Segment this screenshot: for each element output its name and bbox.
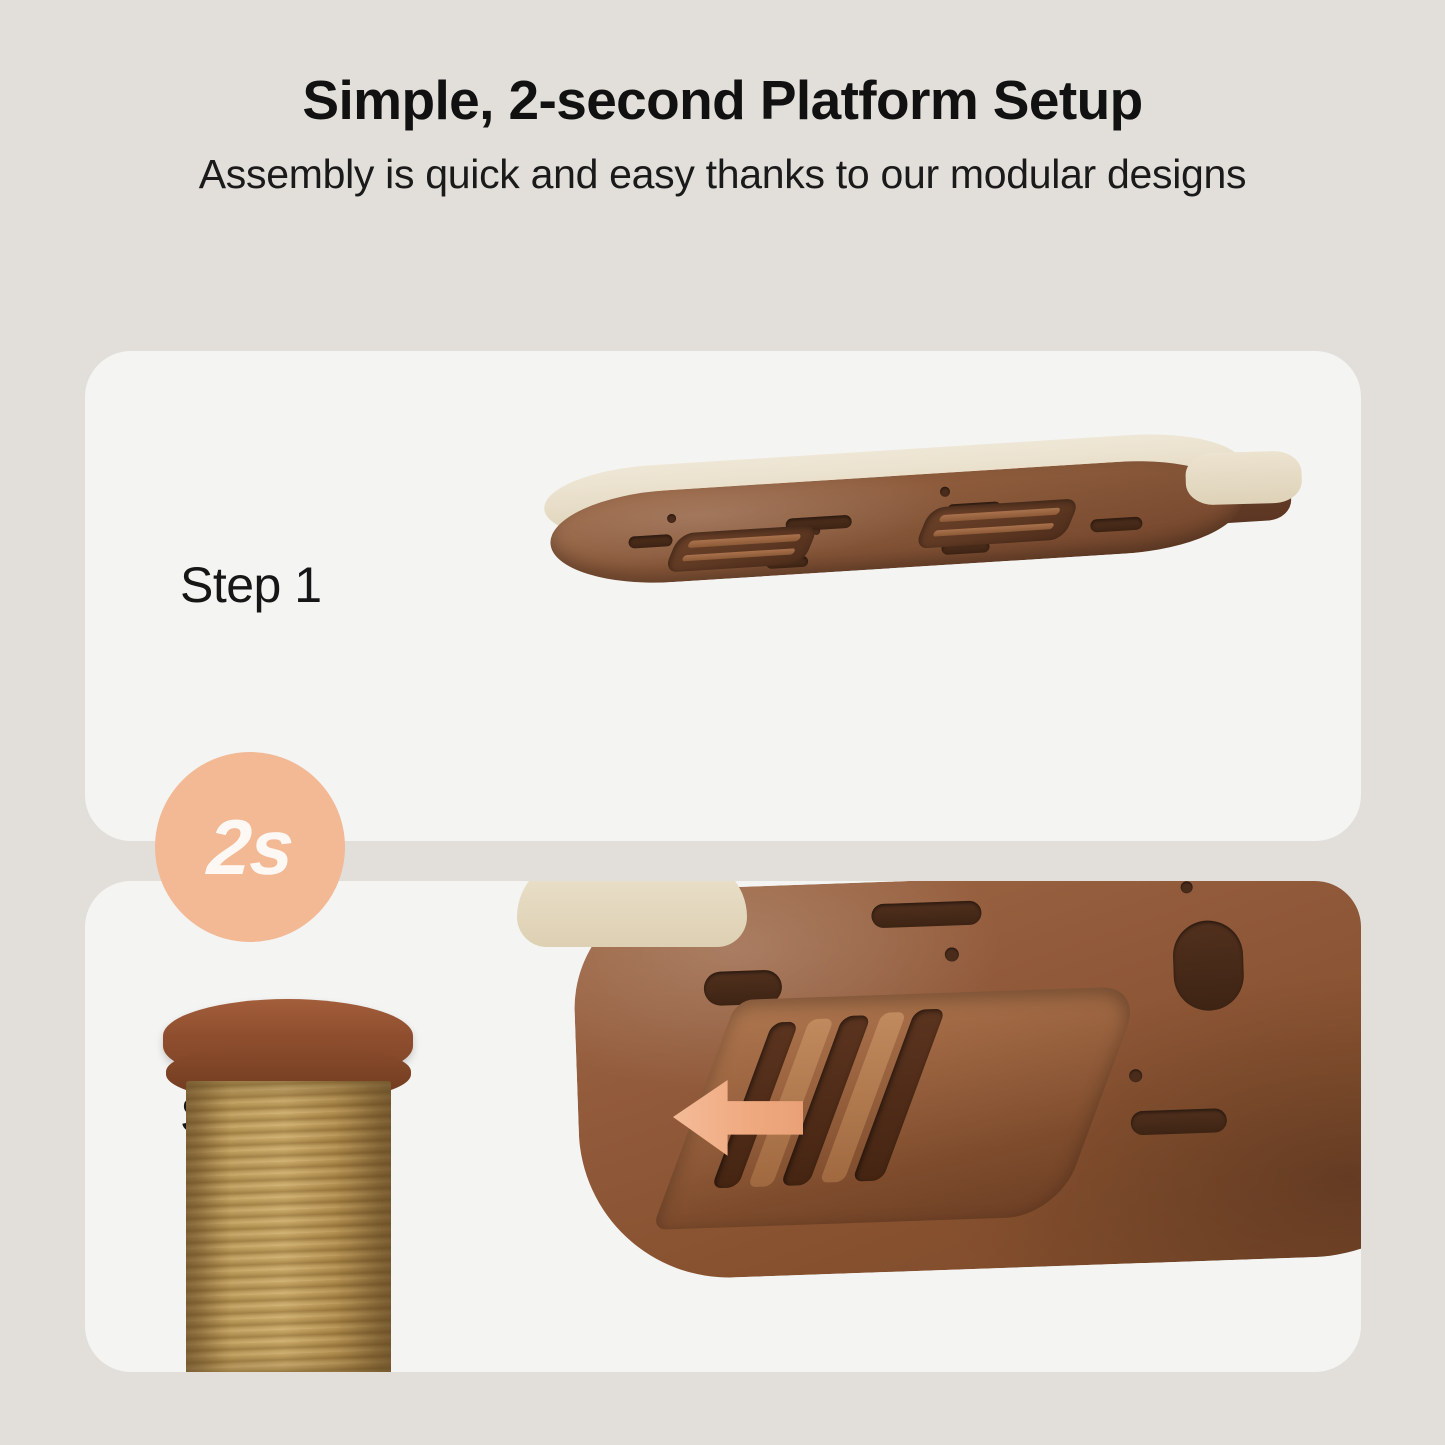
platform-board xyxy=(542,426,1278,592)
header: Simple, 2-second Platform Setup Assembly… xyxy=(0,0,1445,197)
sisal-post xyxy=(163,999,413,1372)
oval-slot xyxy=(1130,1108,1227,1135)
page-subtitle: Assembly is quick and easy thanks to our… xyxy=(0,152,1445,197)
duration-badge: 2s xyxy=(155,752,345,942)
step-2-illustration xyxy=(85,881,1361,1372)
screw-hole xyxy=(940,486,951,497)
sisal-rope xyxy=(186,1081,391,1372)
screw-hole xyxy=(1180,881,1192,893)
platform-cream-edge xyxy=(517,881,747,947)
oval-slot xyxy=(628,534,673,549)
screw-hole xyxy=(667,514,677,524)
screw-hole xyxy=(945,947,959,961)
step-2-card: Step 2 xyxy=(85,881,1361,1372)
locking-slot-plate xyxy=(914,498,1081,549)
platform-side-tab xyxy=(1185,450,1302,505)
platform-underside-closeup xyxy=(577,881,1361,1297)
oval-slot xyxy=(1172,919,1245,1011)
oval-slot xyxy=(871,901,982,929)
duration-badge-label: 2s xyxy=(205,808,295,886)
page-title: Simple, 2-second Platform Setup xyxy=(0,72,1445,130)
screw-hole xyxy=(1129,1069,1142,1082)
oval-slot xyxy=(1090,516,1143,532)
